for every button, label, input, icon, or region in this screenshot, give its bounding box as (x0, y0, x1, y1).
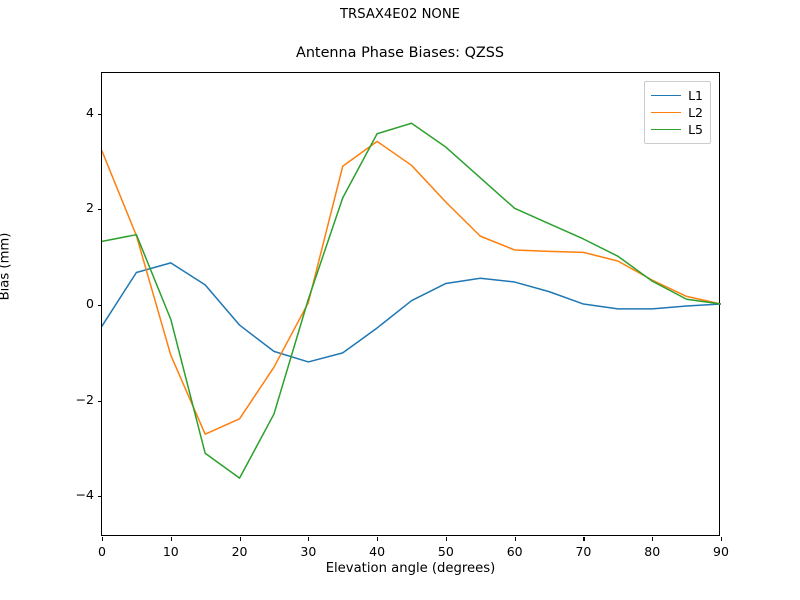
x-tick (377, 537, 378, 541)
y-tick-label: 4 (34, 105, 94, 120)
x-tick-label: 90 (691, 544, 751, 559)
legend-swatch-l2 (651, 112, 681, 113)
legend-label: L5 (688, 121, 703, 138)
line-chart-svg (102, 73, 721, 537)
y-axis-label: Bias (mm) (0, 117, 13, 417)
x-tick (446, 537, 447, 541)
y-tick (98, 114, 102, 115)
y-tick-label: −2 (34, 392, 94, 407)
legend-item-l5[interactable]: L5 (651, 121, 703, 138)
legend-swatch-l5 (651, 129, 681, 130)
page-title: Antenna Phase Biases: QZSS (0, 45, 800, 61)
x-axis-label: Elevation angle (degrees) (101, 561, 720, 576)
x-tick (652, 537, 653, 541)
x-tick-label: 20 (210, 544, 270, 559)
series-group (102, 123, 721, 478)
x-tick (308, 537, 309, 541)
plot-axes: 0102030405060708090 −4−2024 L1L2L5 (101, 72, 720, 536)
legend-swatch-l1 (651, 95, 681, 96)
y-tick (98, 305, 102, 306)
x-tick-label: 80 (622, 544, 682, 559)
legend-label: L1 (688, 87, 703, 104)
x-tick (721, 537, 722, 541)
legend-item-l2[interactable]: L2 (651, 104, 703, 121)
x-tick-label: 0 (72, 544, 132, 559)
x-tick-label: 50 (416, 544, 476, 559)
x-tick (171, 537, 172, 541)
x-tick (515, 537, 516, 541)
x-tick-label: 40 (347, 544, 407, 559)
y-tick-label: −4 (34, 487, 94, 502)
x-tick (583, 537, 584, 541)
x-tick (240, 537, 241, 541)
chart-legend[interactable]: L1L2L5 (644, 81, 711, 144)
figure-suptitle: TRSAX4E02 NONE (0, 7, 800, 22)
y-tick-label: 0 (34, 296, 94, 311)
legend-label: L2 (688, 104, 703, 121)
x-tick-label: 10 (141, 544, 201, 559)
figure-canvas: TRSAX4E02 NONE Antenna Phase Biases: QZS… (0, 0, 800, 600)
x-tick (102, 537, 103, 541)
x-tick-label: 60 (485, 544, 545, 559)
y-tick (98, 209, 102, 210)
series-line-l2 (102, 141, 721, 434)
y-tick-label: 2 (34, 200, 94, 215)
series-line-l1 (102, 263, 721, 362)
y-tick (98, 496, 102, 497)
legend-item-l1[interactable]: L1 (651, 87, 703, 104)
x-tick-label: 30 (278, 544, 338, 559)
y-tick (98, 401, 102, 402)
x-tick-label: 70 (553, 544, 613, 559)
